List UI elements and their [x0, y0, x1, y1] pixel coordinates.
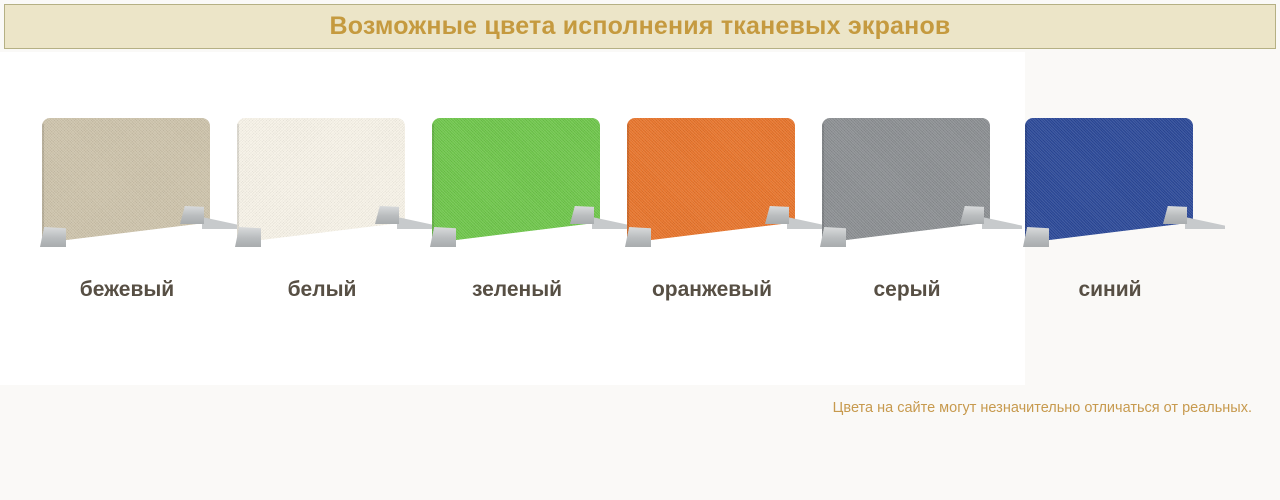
color-swatch-label: зеленый [422, 278, 612, 302]
color-swatch-label: серый [812, 278, 1002, 302]
fabric-screen-icon [822, 118, 990, 243]
screen-left-edge [822, 124, 824, 243]
color-disclaimer-note: Цвета на сайте могут незначительно отлич… [833, 400, 1252, 416]
screen-fabric-face [822, 118, 990, 243]
screen-foot-left [820, 227, 846, 247]
screen-fabric-face [432, 118, 600, 243]
screen-left-edge [432, 124, 434, 243]
screen-base-shelf [1185, 217, 1225, 229]
color-swatch-item[interactable]: серый [812, 60, 1007, 325]
color-swatch-item[interactable]: оранжевый [617, 60, 812, 325]
fabric-screen-icon [1025, 118, 1193, 243]
color-swatch-item[interactable]: зеленый [422, 60, 617, 325]
screen-left-edge [42, 124, 44, 243]
screen-foot-left [625, 227, 651, 247]
color-swatch-item[interactable]: синий [1015, 60, 1210, 325]
color-swatch-label: синий [1015, 278, 1205, 302]
color-swatch-item[interactable]: бежевый [32, 60, 227, 325]
color-swatch-label: оранжевый [617, 278, 807, 302]
color-swatch-item[interactable]: белый [227, 60, 422, 325]
screen-left-edge [237, 124, 239, 243]
fabric-screen-icon [42, 118, 210, 243]
fabric-screen-icon [627, 118, 795, 243]
page-header-banner: Возможные цвета исполнения тканевых экра… [4, 4, 1276, 49]
color-swatch-strip: бежевый белый зеленый оранжевый [0, 60, 1280, 325]
screen-fabric-face [627, 118, 795, 243]
fabric-screen-icon [237, 118, 405, 243]
fabric-screen-icon [432, 118, 600, 243]
screen-fabric-face [42, 118, 210, 243]
screen-foot-left [235, 227, 261, 247]
page-title: Возможные цвета исполнения тканевых экра… [330, 14, 951, 39]
color-swatch-label: бежевый [32, 278, 222, 302]
screen-left-edge [1025, 124, 1027, 243]
screen-foot-left [40, 227, 66, 247]
screen-foot-left [1023, 227, 1049, 247]
screen-fabric-face [1025, 118, 1193, 243]
screen-foot-left [430, 227, 456, 247]
color-swatch-label: белый [227, 278, 417, 302]
screen-fabric-face [237, 118, 405, 243]
screen-left-edge [627, 124, 629, 243]
